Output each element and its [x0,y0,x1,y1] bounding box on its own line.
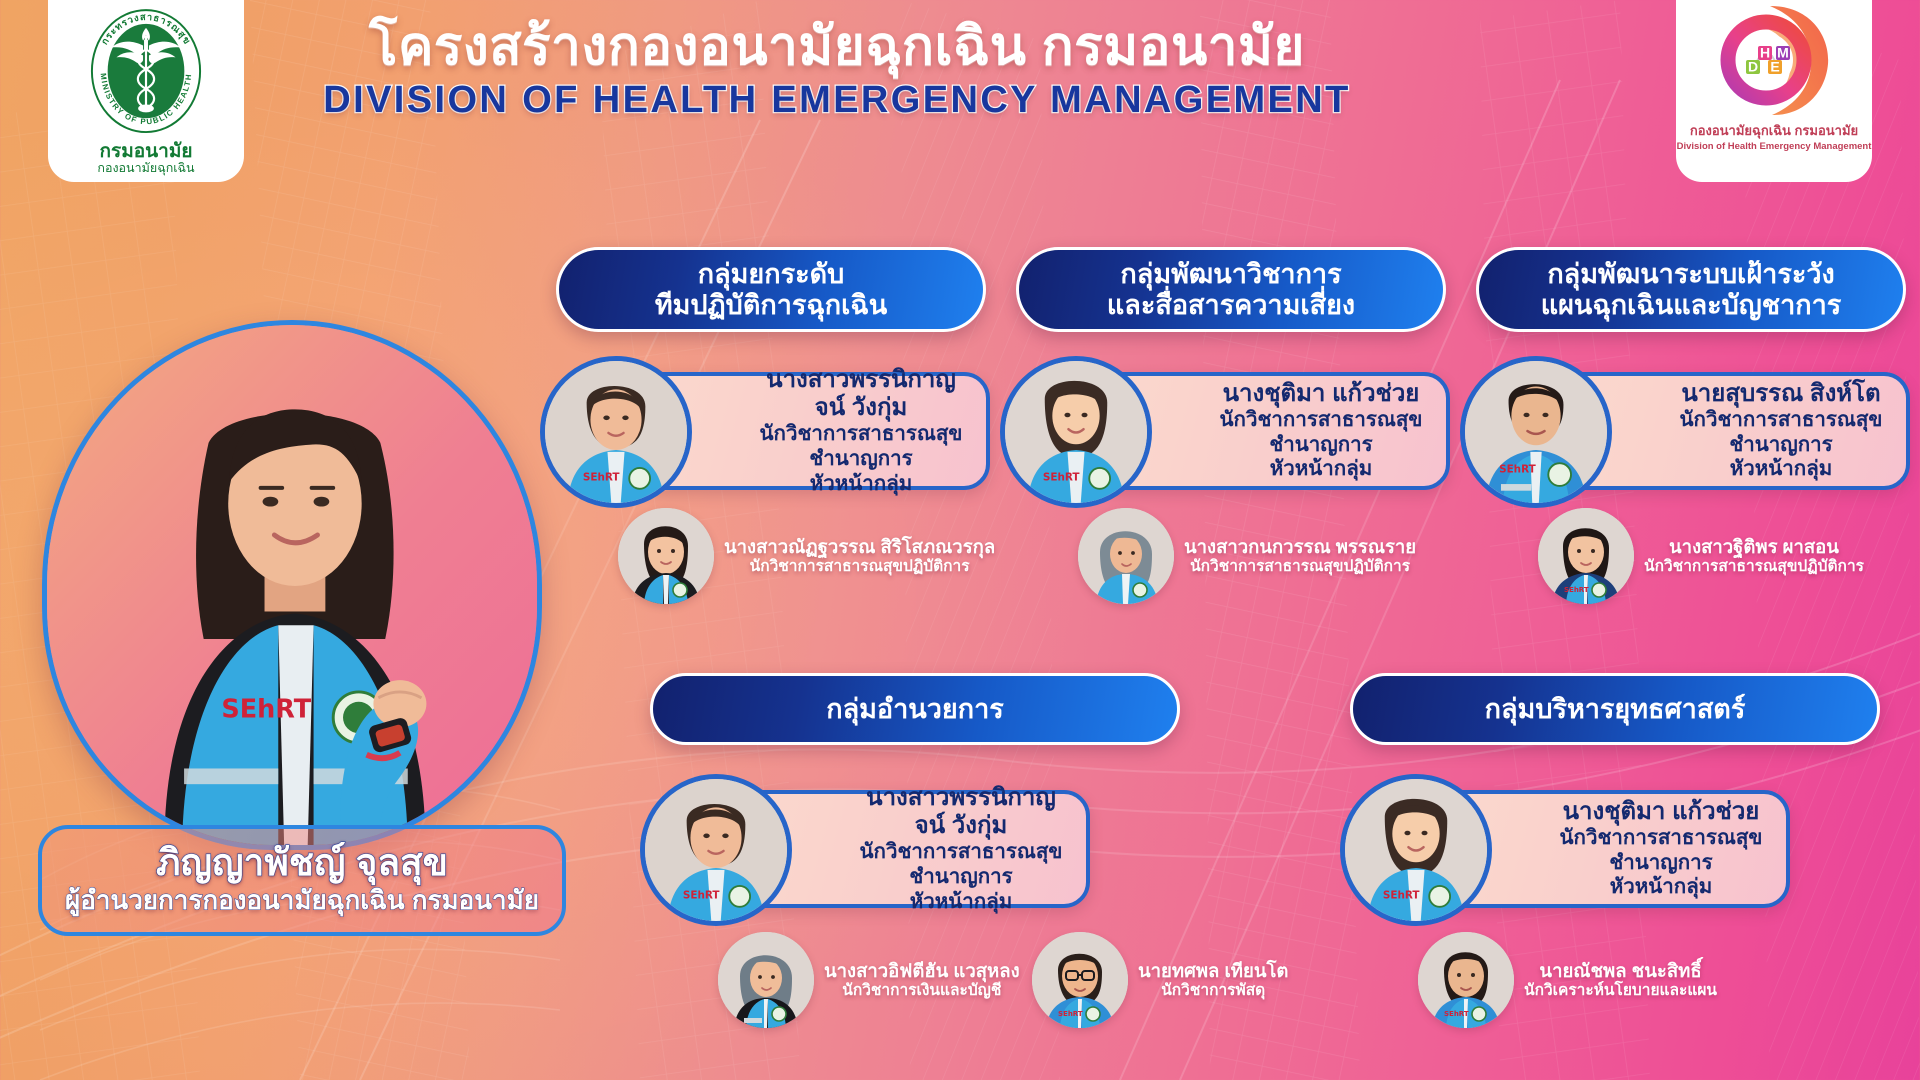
chief-card-group1[interactable]: นางสาวพรรนิกาญจน์ วังกุ่ม นักวิชาการสาธา… [540,372,990,490]
staff-position: นักวิชาการพัสดุ [1138,982,1288,1001]
staff-avatar [618,508,714,604]
group-title-line1: กลุ่มยกระดับ [655,259,887,289]
group-title-line1: กลุ่มพัฒนาระบบเฝ้าระวัง [1541,259,1842,289]
director-block: SEhRT ภิญญาพัชญ์ จุลสุข ผู้อำนวยการกองอน… [42,320,562,850]
group-title-line1: กลุ่มบริหารยุทธศาสตร์ [1485,694,1746,724]
page-title-en: DIVISION OF HEALTH EMERGENCY MANAGEMENT [292,79,1382,122]
group-header-strategy-management[interactable]: กลุ่มบริหารยุทธศาสตร์ [1350,673,1880,745]
svg-text:SEhRT: SEhRT [221,694,311,724]
group-header-administration[interactable]: กลุ่มอำนวยการ [650,673,1180,745]
staff-name: นางสาวกนกวรรณ พรรณราย [1184,536,1416,558]
chief-avatar: SEhRT [1460,356,1612,508]
staff-avatar: SEhRT [1418,932,1514,1028]
director-portrait: SEhRT [42,320,542,850]
svg-text:SEhRT: SEhRT [683,889,721,901]
staff-name: นางสาวฐิติพร ผาสอน [1644,536,1864,558]
chief-card-group5[interactable]: นางชุติมา แก้วช่วย นักวิชาการสาธารณสุขชำ… [1340,790,1790,908]
svg-text:M: M [1777,45,1789,61]
chief-rank: หัวหน้ากลุ่ม [852,890,1070,915]
staff-row-group5-0[interactable]: SEhRT นายณัชพล ชนะสิทธิ์ นักวิเคราะห์นโย… [1418,932,1848,1028]
chief-position: นักวิชาการสาธารณสุขชำนาญการ [852,840,1070,889]
chief-name: นางสาวพรรนิกาญจน์ วังกุ่ม [752,366,970,423]
title-block: โครงสร้างกองอนามัยฉุกเฉิน กรมอนามัย DIVI… [292,18,1382,122]
ministry-logo-panel: กระทรวงสาธารณสุข MINISTRY OF PUBLIC HEAL… [48,0,244,182]
svg-text:SEhRT: SEhRT [1564,586,1589,594]
group-title-line2: และสื่อสารความเสี่ยง [1107,290,1355,320]
chief-name: นายสุบรรณ สิงห์โต [1672,380,1890,408]
director-nameplate: ภิญญาพัชญ์ จุลสุข ผู้อำนวยการกองอนามัยฉุ… [38,825,566,936]
chief-card-group3[interactable]: นายสุบรรณ สิงห์โต นักวิชาการสาธารณสุขชำน… [1460,372,1910,490]
group-title-line2: แผนฉุกเฉินและบัญชาการ [1541,290,1842,320]
page-title-th: โครงสร้างกองอนามัยฉุกเฉิน กรมอนามัย [292,18,1382,75]
chief-name: นางชุติมา แก้วช่วย [1552,798,1770,826]
staff-avatar: SEhRT [1538,508,1634,604]
staff-name: นายทศพล เทียนโต [1138,960,1288,982]
svg-text:SEhRT: SEhRT [583,471,621,483]
svg-text:H: H [1760,45,1770,61]
staff-row-group3-0[interactable]: SEhRT นางสาวฐิติพร ผาสอน นักวิชาการสาธาร… [1538,508,1920,604]
chief-position: นักวิชาการสาธารณสุขชำนาญการ [1212,408,1430,457]
staff-position: นักวิชาการสาธารณสุขปฏิบัติการ [1184,558,1416,577]
chief-card-group4[interactable]: นางสาวพรรนิกาญจน์ วังกุ่ม นักวิชาการสาธา… [640,790,1090,908]
chief-rank: หัวหน้ากลุ่ม [1672,457,1890,482]
chief-rank: หัวหน้ากลุ่ม [1552,875,1770,900]
staff-position: นักวิชาการสาธารณสุขปฏิบัติการ [1644,558,1864,577]
director-name: ภิญญาพัชญ์ จุลสุข [52,843,552,884]
director-role: ผู้อำนวยการกองอนามัยฉุกเฉิน กรมอนามัย [52,886,552,916]
svg-text:SEhRT: SEhRT [1043,471,1081,483]
staff-avatar: SEhRT [1032,932,1128,1028]
staff-name: นางสาวอิฟตีฮัน แวสุหลง [824,960,1020,982]
staff-row-group4-1[interactable]: SEhRT นายทศพล เทียนโต นักวิชาการพัสดุ [1032,932,1332,1028]
page-header: กระทรวงสาธารณสุข MINISTRY OF PUBLIC HEAL… [0,0,1920,208]
chief-avatar: SEhRT [540,356,692,508]
staff-avatar [718,932,814,1028]
chief-rank: หัวหน้ากลุ่ม [1212,457,1430,482]
group-header-upgrade-emergency-team[interactable]: กลุ่มยกระดับ ทีมปฏิบัติการฉุกเฉิน [556,247,986,332]
staff-position: นักวิชาการเงินและบัญชี [824,982,1020,1001]
dhem-caption-th: กองอนามัยฉุกเฉิน กรมอนามัย [1690,120,1858,141]
dhem-caption-en: Division of Health Emergency Management [1677,141,1872,152]
staff-row-group4-0[interactable]: นางสาวอิฟตีฮัน แวสุหลง นักวิชาการเงินและ… [718,932,1048,1028]
group-header-academic-risk-communication[interactable]: กลุ่มพัฒนาวิชาการ และสื่อสารความเสี่ยง [1016,247,1446,332]
dhem-logo-icon: D H E M [1712,0,1836,122]
chief-avatar: SEhRT [1000,356,1152,508]
chief-position: นักวิชาการสาธารณสุขชำนาญการ [1552,826,1770,875]
chief-avatar: SEhRT [640,774,792,926]
chief-rank: หัวหน้ากลุ่ม [752,472,970,497]
ministry-logo-caption-sub: กองอนามัยฉุกเฉิน [97,162,194,176]
staff-name: นายณัชพล ชนะสิทธิ์ [1524,960,1717,982]
svg-text:SEhRT: SEhRT [1383,889,1421,901]
ministry-of-public-health-seal-icon: กระทรวงสาธารณสุข MINISTRY OF PUBLIC HEAL… [87,6,205,146]
svg-text:SEhRT: SEhRT [1499,464,1537,476]
svg-text:E: E [1770,59,1779,75]
chief-name: นางสาวพรรนิกาญจน์ วังกุ่ม [852,784,1070,841]
staff-position: นักวิเคราะห์นโยบายและแผน [1524,982,1717,1001]
staff-position: นักวิชาการสาธารณสุขปฏิบัติการ [724,558,995,577]
chief-position: นักวิชาการสาธารณสุขชำนาญการ [1672,408,1890,457]
staff-row-group1-0[interactable]: นางสาวณัฏฐวรรณ สิริโสภณวรกุล นักวิชาการส… [618,508,1048,604]
svg-text:SEhRT: SEhRT [1444,1010,1469,1018]
group-title-line1: กลุ่มอำนวยการ [826,694,1004,724]
chief-card-group2[interactable]: นางชุติมา แก้วช่วย นักวิชาการสาธารณสุขชำ… [1000,372,1450,490]
chief-position: นักวิชาการสาธารณสุขชำนาญการ [752,422,970,471]
group-title-line1: กลุ่มพัฒนาวิชาการ [1107,259,1355,289]
svg-text:SEhRT: SEhRT [1058,1010,1083,1018]
group-title-line2: ทีมปฏิบัติการฉุกเฉิน [655,290,887,320]
staff-row-group2-0[interactable]: นางสาวกนกวรรณ พรรณราย นักวิชาการสาธารณสุ… [1078,508,1508,604]
dhem-logo-panel: D H E M กองอนามัยฉุกเฉิน กรมอนามัย Divis… [1676,0,1872,182]
chief-name: นางชุติมา แก้วช่วย [1212,380,1430,408]
chief-avatar: SEhRT [1340,774,1492,926]
svg-text:D: D [1748,59,1758,75]
staff-name: นางสาวณัฏฐวรรณ สิริโสภณวรกุล [724,536,995,558]
staff-avatar [1078,508,1174,604]
group-header-surveillance-command[interactable]: กลุ่มพัฒนาระบบเฝ้าระวัง แผนฉุกเฉินและบัญ… [1476,247,1906,332]
